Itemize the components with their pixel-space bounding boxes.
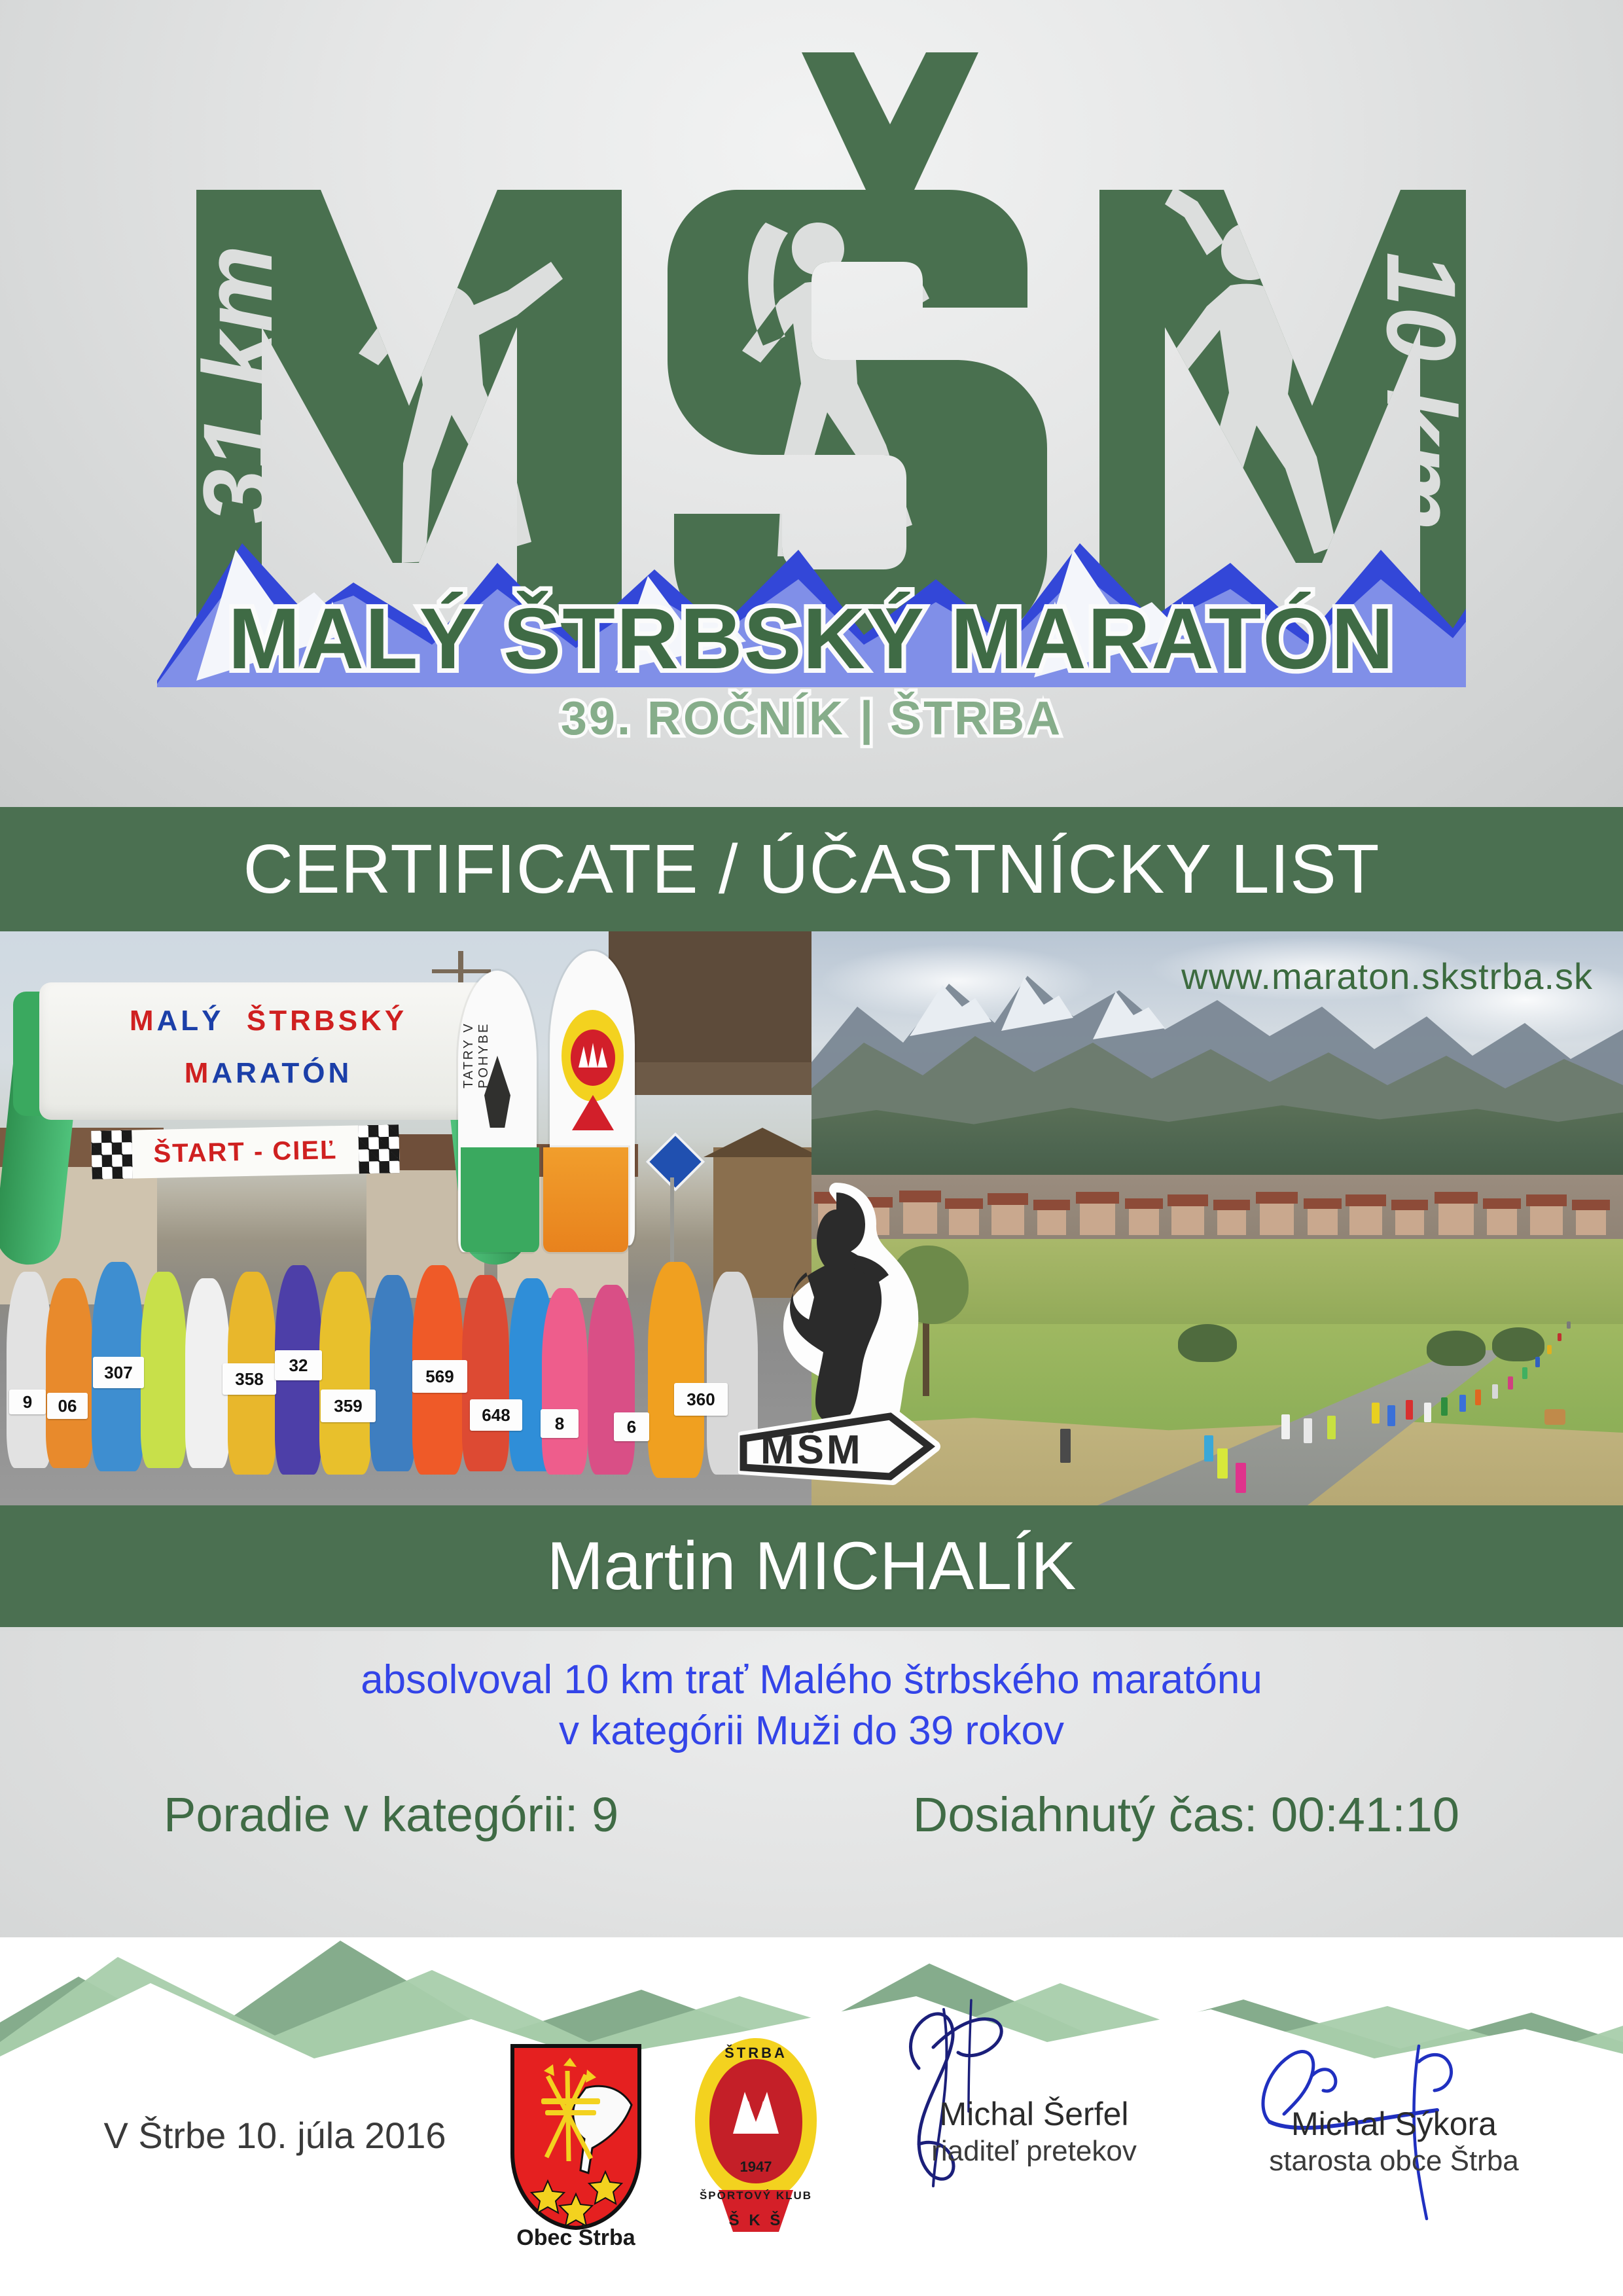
caron-accent [802,52,978,200]
runner [370,1275,416,1471]
sks-year: 1947 [740,2159,772,2175]
website-url: www.maraton.skstrba.sk [1181,955,1593,997]
signatory-name: Michal Sýkora [1224,2104,1564,2144]
signatory-role: riaditeľ pretekov [864,2134,1204,2169]
bush [1427,1331,1486,1366]
runner [1522,1367,1527,1379]
arch-text-aly: ALÝ [156,1005,224,1037]
runner [1327,1416,1336,1439]
arch-text-araton: ARATÓN [211,1057,352,1089]
event-logo: 31 km 10 km [0,26,1623,720]
event-subtitle: 39. ROČNÍK | ŠTRBA [0,692,1623,745]
arch-banner [39,982,497,1120]
runner [462,1275,509,1471]
bush [1178,1324,1237,1362]
bib-number: 359 [321,1390,376,1422]
spectator [1060,1429,1071,1463]
signatory-role: starosta obce Štrba [1224,2144,1564,2179]
sks-top-label: ŠTRBA [724,2045,787,2061]
runner [1204,1435,1213,1462]
result-description: absolvoval 10 km trať Malého štrbského m… [0,1655,1623,1757]
signatory-name: Michal Šerfel [864,2094,1204,2134]
runner [319,1272,372,1475]
place-and-date: V Štrbe 10. júla 2016 [79,2114,471,2157]
event-title: MALÝ ŠTRBSKÝ MARATÓN [0,589,1623,688]
photo-start-line: MALÝ ŠTRBSKÝ MARATÓN ŠTART - CIEĽ TATRY … [0,931,811,1505]
flag-tatry-label: TATRY V POHYBE [461,1016,491,1088]
sks-bottom-label: Š K Š [729,2211,783,2229]
runner [1535,1357,1540,1367]
roof [609,931,811,1062]
runner [1492,1384,1498,1399]
start-finish-banner: ŠTART - CIEĽ [91,1124,399,1179]
runner [1424,1403,1431,1422]
bib-number: 648 [470,1399,522,1431]
checker-right [358,1124,400,1174]
arch-text-strbsky: ŠTRBSKÝ [247,1005,407,1037]
bib-number: 358 [223,1363,276,1395]
signature-block-sykora: Michal Sýkora starosta obce Štrba [1224,2104,1564,2179]
runner [1281,1414,1290,1439]
signature-block-serfel: Michal Šerfel riaditeľ pretekov [864,2094,1204,2169]
arch-text-line1: MALÝ ŠTRBSKÝ [98,1005,438,1037]
flag-sks-orange [543,1147,628,1252]
runner [1558,1333,1561,1341]
sks-club-emblem: ŠTRBA 1947 ŠPORTOVÝ KLUB Š K Š [681,2036,831,2232]
runner [1387,1405,1395,1426]
bib-number: 06 [47,1393,88,1419]
certificate-title: CERTIFICATE / ÚČASTNÍCKY LIST [0,807,1623,931]
svg-text:10 km: 10 km [1366,252,1466,530]
runner [1475,1390,1481,1405]
bib-number: 569 [412,1360,467,1393]
runner [1508,1376,1513,1390]
runner [588,1285,635,1475]
bib-number: 360 [674,1383,728,1416]
bib-number: 6 [614,1412,649,1441]
logo-letter-m-right: 10 km [1099,187,1466,648]
arch-text-m2: M [185,1057,212,1089]
bib-number: 307 [93,1357,144,1388]
arch-text-line2: MARATÓN [98,1057,438,1090]
result-row: Poradie v kategórii: 9 Dosiahnutý čas: 0… [0,1787,1623,1842]
flag-tatry-green [461,1147,539,1252]
result-line-2: v kategórii Muži do 39 rokov [0,1706,1623,1757]
runner [1217,1448,1228,1479]
bib-number: 32 [275,1350,322,1380]
sks-arc-label: ŠPORTOVÝ KLUB [700,2189,812,2202]
finish-time: Dosiahnutý čas: 00:41:10 [913,1787,1459,1842]
arch-text-m1: M [130,1005,157,1037]
runner [1459,1395,1466,1412]
coat-of-arms-strba [507,2042,645,2232]
category-rank: Poradie v kategórii: 9 [164,1787,618,1842]
bib-number: 9 [9,1390,46,1414]
runner [1304,1418,1312,1443]
coat-of-arms-label: Obec Štrba [497,2225,654,2251]
runner [1441,1397,1448,1416]
logo-letter-s [668,190,1047,648]
result-line-1: absolvoval 10 km trať Malého štrbského m… [0,1655,1623,1706]
runner [1567,1321,1571,1329]
runner [542,1288,588,1475]
pole-arm [432,969,491,973]
certificate-page: 31 km 10 km [0,0,1623,2296]
bib-number: 8 [541,1409,579,1438]
runner [1372,1403,1380,1424]
participant-name: Martin MICHALÍK [0,1505,1623,1627]
start-finish-text: ŠTART - CIEĽ [132,1125,359,1178]
logo-title-wrap: MALÝ ŠTRBSKÝ MARATÓN 39. ROČNÍK | ŠTRBA [0,589,1623,745]
runner [141,1272,187,1468]
runner [1547,1345,1552,1354]
svg-text:31 km: 31 km [183,245,293,524]
cow [1544,1409,1565,1425]
checker-left [91,1130,133,1179]
runner [1406,1400,1413,1420]
runner [648,1262,704,1478]
runner [1236,1463,1246,1493]
runner [46,1278,93,1468]
msm-runner-sticker: MŠM [738,1178,954,1499]
sticker-label: MŠM [760,1427,863,1473]
